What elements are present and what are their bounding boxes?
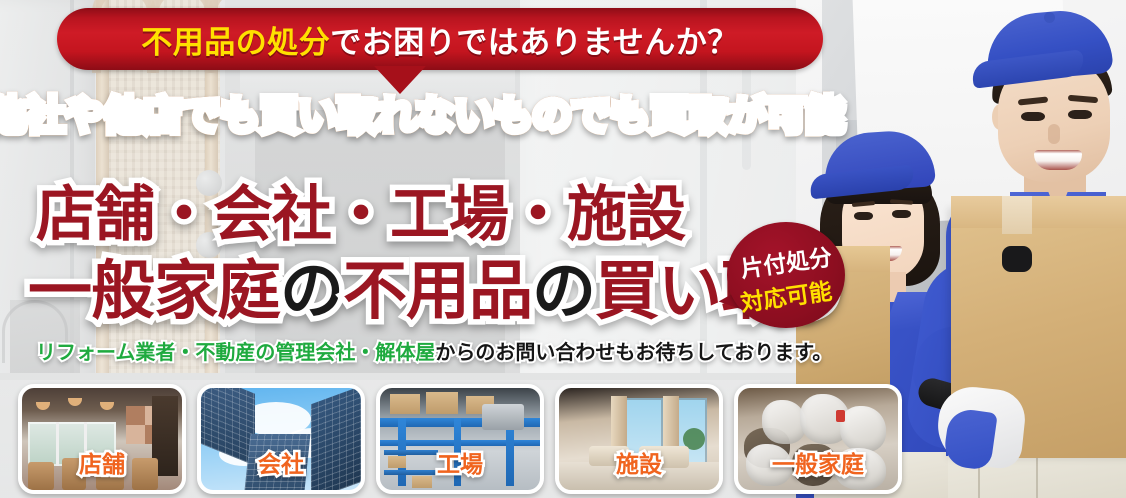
factory-machine	[482, 404, 524, 430]
cafe-pendant-lamp	[68, 398, 82, 406]
clutter-accent	[836, 410, 845, 422]
main-headline-particle-1: の	[280, 255, 343, 327]
male-staff-smile	[1034, 150, 1082, 170]
thumbnail-label: 店舗	[22, 445, 182, 479]
large-box-tape	[1002, 196, 1032, 234]
cafe-pendant-lamp	[36, 402, 50, 410]
male-staff-nose	[1048, 124, 1060, 144]
large-box-handle-hole	[1002, 246, 1032, 272]
thumbnail-company[interactable]: 会社	[197, 384, 365, 494]
main-headline-segment-items: 不用品	[343, 255, 532, 327]
footnote-rest: からのお問い合わせもお待ちしております。	[435, 342, 832, 364]
male-staff-cap-button	[1044, 12, 1055, 23]
main-headline-particle-2: の	[532, 255, 595, 327]
thumbnail-label: 施設	[559, 445, 719, 479]
footnote-highlight: リフォーム業者・不動産の管理会社・解体屋	[36, 342, 435, 364]
female-staff-eye	[892, 210, 911, 218]
crate	[390, 394, 420, 414]
sub-headline: 他社や他店でも買い取れないものでも買取が可能	[0, 84, 830, 140]
promo-banner: 不用品の処分 でお困りではありませんか？ 他社や他店でも買い取れないものでも買取…	[0, 0, 1126, 498]
thumbnail-facility[interactable]: 施設	[555, 384, 723, 494]
thumbnail-household[interactable]: 一般家庭	[734, 384, 902, 494]
thumbnail-strip: 店舗 会社 工場	[18, 384, 902, 494]
crate	[426, 392, 458, 414]
headline-pill-text: 不用品の処分 でお困りではありませんか？	[57, 8, 823, 70]
status-badge: 片付処分 対応可能	[727, 222, 845, 328]
thumbnail-store[interactable]: 店舗	[18, 384, 186, 494]
headline-highlight: 不用品の処分	[141, 17, 330, 62]
thumbnail-label: 一般家庭	[738, 445, 898, 479]
cafe-pendant-lamp	[100, 402, 114, 410]
female-staff-eye	[854, 212, 873, 220]
thumbnail-label: 会社	[201, 445, 361, 479]
main-headline-segment-household: 一般家庭	[28, 255, 280, 327]
male-staff-eye	[1068, 110, 1092, 119]
footnote: リフォーム業者・不動産の管理会社・解体屋からのお問い合わせもお待ちしております。	[36, 336, 832, 365]
thumbnail-factory[interactable]: 工場	[376, 384, 544, 494]
large-box-flap	[951, 196, 1126, 228]
headline-rest: でお困りではありませんか？	[330, 17, 739, 62]
male-staff-eye	[1021, 112, 1045, 121]
thumbnail-label: 工場	[380, 445, 540, 479]
